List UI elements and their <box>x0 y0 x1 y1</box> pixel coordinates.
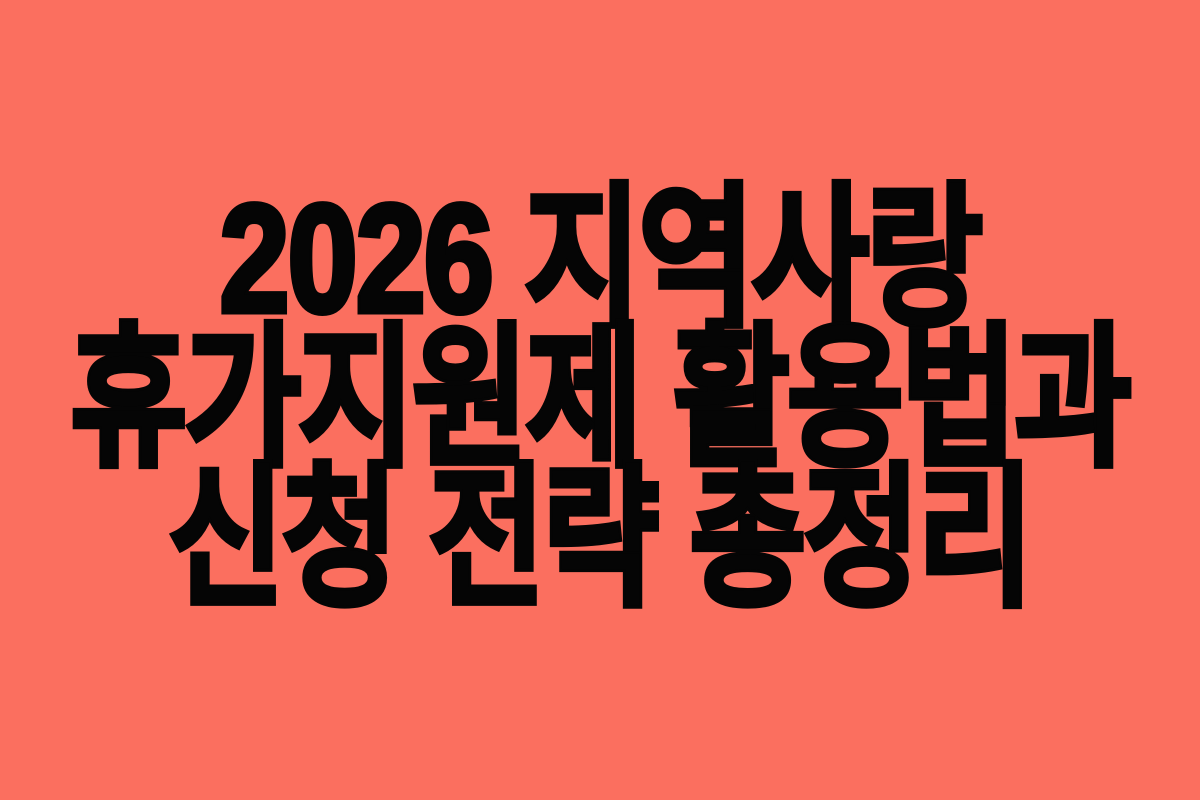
title-line-3: 신청 전략 총정리 <box>0 454 1200 625</box>
thumbnail-banner: 2026 지역사랑 휴가지원제 활용법과 신청 전략 총정리 <box>0 0 1200 800</box>
title-block: 2026 지역사랑 휴가지원제 활용법과 신청 전략 총정리 <box>0 189 1200 609</box>
